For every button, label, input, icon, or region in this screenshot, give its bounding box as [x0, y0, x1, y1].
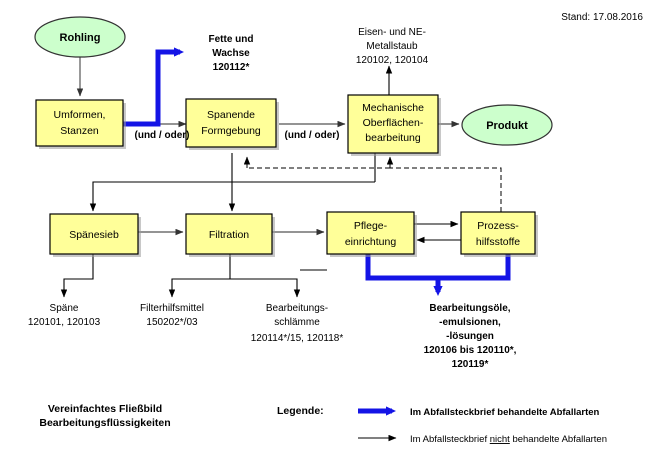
node-filtration[interactable]: Filtration	[186, 214, 275, 257]
edge-spaenesieb-outputs	[64, 253, 93, 297]
legend-nicht-pre: Im Abfallsteckbrief	[410, 434, 490, 445]
node-filtration-label: Filtration	[209, 229, 249, 241]
caption-line1: Vereinfachtes Fließbild	[48, 403, 162, 415]
waste-filterhilfsmittel-line1: Filterhilfsmittel	[140, 303, 204, 314]
legend: Legende: Im Abfallsteckbrief behandelte …	[277, 405, 607, 445]
flow-diagram-canvas: Rohling Produkt Umformen, Stanzen Spanen…	[0, 0, 659, 457]
node-mechanische-oberflaechenbearbeitung[interactable]: Mechanische Oberflächen- bearbeitung	[348, 95, 441, 156]
legend-nicht-post: behandelte Abfallarten	[510, 434, 607, 445]
waste-filterhilfsmittel-line2: 150202*/03	[146, 317, 198, 328]
node-spaenesieb[interactable]: Spänesieb	[50, 214, 141, 257]
diagram-svg: Rohling Produkt Umformen, Stanzen Spanen…	[0, 0, 659, 457]
node-umformen-line2: Stanzen	[60, 125, 99, 137]
node-umformen-stanzen[interactable]: Umformen, Stanzen	[36, 100, 126, 149]
legend-heading: Legende:	[277, 405, 324, 417]
node-spaenesieb-label: Spänesieb	[69, 229, 119, 241]
node-spanende-line2: Formgebung	[201, 125, 261, 137]
edge-pflege-prozesshilfsstoffe	[414, 224, 461, 240]
node-mechanische-line3: bearbeitung	[365, 132, 421, 144]
waste-oele-line1: Bearbeitungsöle,	[429, 303, 510, 314]
edge-row2-to-bearbeitungsoele	[368, 253, 508, 292]
waste-label-spaene: Späne 120101, 120103	[28, 303, 101, 328]
node-pflegeeinrichtung[interactable]: Pflege- einrichtung	[327, 212, 417, 257]
edge-feedback-dashed	[247, 157, 501, 212]
node-mechanische-line2: Oberflächen-	[363, 117, 424, 129]
waste-label-bearbeitungsschlaemme: Bearbeitungs- schlämme 120114*/15, 12011…	[251, 303, 344, 344]
node-rohling[interactable]: Rohling	[35, 17, 125, 57]
waste-spaene-line2: 120101, 120103	[28, 317, 101, 328]
waste-label-eisen-ne-metallstaub: Eisen- und NE- Metallstaub 120102, 12010…	[356, 27, 429, 66]
waste-fette-line2: Wachse	[212, 48, 250, 59]
waste-schlaemme-line2: schlämme	[274, 317, 320, 328]
waste-metallstaub-line2: Metallstaub	[366, 41, 418, 52]
waste-fette-line1: Fette und	[209, 34, 254, 45]
node-rohling-label: Rohling	[60, 32, 101, 44]
caption-line2: Bearbeitungsflüssigkeiten	[39, 417, 170, 429]
waste-oele-line3: -lösungen	[446, 331, 494, 342]
edge-umformen-to-fette-wachse	[123, 52, 180, 124]
waste-oele-line2: -emulsionen,	[439, 317, 501, 328]
waste-metallstaub-line3: 120102, 120104	[356, 55, 429, 66]
node-prozesshilfsstoffe-line2: hilfsstoffe	[476, 236, 520, 248]
waste-schlaemme-line3: 120114*/15, 120118*	[251, 333, 344, 344]
connector-label-und-oder-2: (und / oder)	[285, 130, 340, 141]
legend-entry-behandelt-label: Im Abfallsteckbrief behandelte Abfallart…	[410, 407, 600, 418]
node-pflege-line2: einrichtung	[345, 236, 397, 248]
waste-spaene-line1: Späne	[50, 303, 79, 314]
node-produkt[interactable]: Produkt	[462, 105, 552, 145]
waste-label-filterhilfsmittel: Filterhilfsmittel 150202*/03	[140, 303, 204, 328]
date-label: Stand: 17.08.2016	[561, 12, 643, 23]
waste-fette-line3: 120112*	[213, 62, 250, 73]
node-prozesshilfsstoffe-line1: Prozess-	[477, 220, 519, 232]
connector-label-und-oder-1: (und / oder)	[135, 130, 190, 141]
edge-filtration-outputs	[172, 253, 297, 297]
node-prozesshilfsstoffe[interactable]: Prozess- hilfsstoffe	[461, 212, 538, 257]
waste-oele-line5: 120119*	[452, 359, 489, 370]
node-pflege-line1: Pflege-	[354, 220, 388, 232]
waste-oele-line4: 120106 bis 120110*,	[424, 345, 517, 356]
waste-schlaemme-line1: Bearbeitungs-	[266, 303, 328, 314]
node-mechanische-line1: Mechanische	[362, 102, 424, 114]
waste-label-fette-und-wachse: Fette und Wachse 120112*	[209, 34, 254, 73]
waste-label-bearbeitungsoele: Bearbeitungsöle, -emulsionen, -lösungen …	[424, 303, 517, 370]
waste-metallstaub-line1: Eisen- und NE-	[358, 27, 426, 38]
legend-entry-nicht-behandelt-label: Im Abfallsteckbrief nicht behandelte Abf…	[410, 434, 607, 445]
diagram-caption: Vereinfachtes Fließbild Bearbeitungsflüs…	[39, 403, 170, 429]
node-umformen-line1: Umformen,	[54, 109, 106, 121]
legend-nicht-em: nicht	[490, 434, 510, 445]
node-spanende-formgebung[interactable]: Spanende Formgebung	[186, 99, 279, 150]
node-produkt-label: Produkt	[486, 120, 528, 132]
edge-bus-to-row2	[93, 153, 375, 211]
node-spanende-line1: Spanende	[207, 109, 255, 121]
